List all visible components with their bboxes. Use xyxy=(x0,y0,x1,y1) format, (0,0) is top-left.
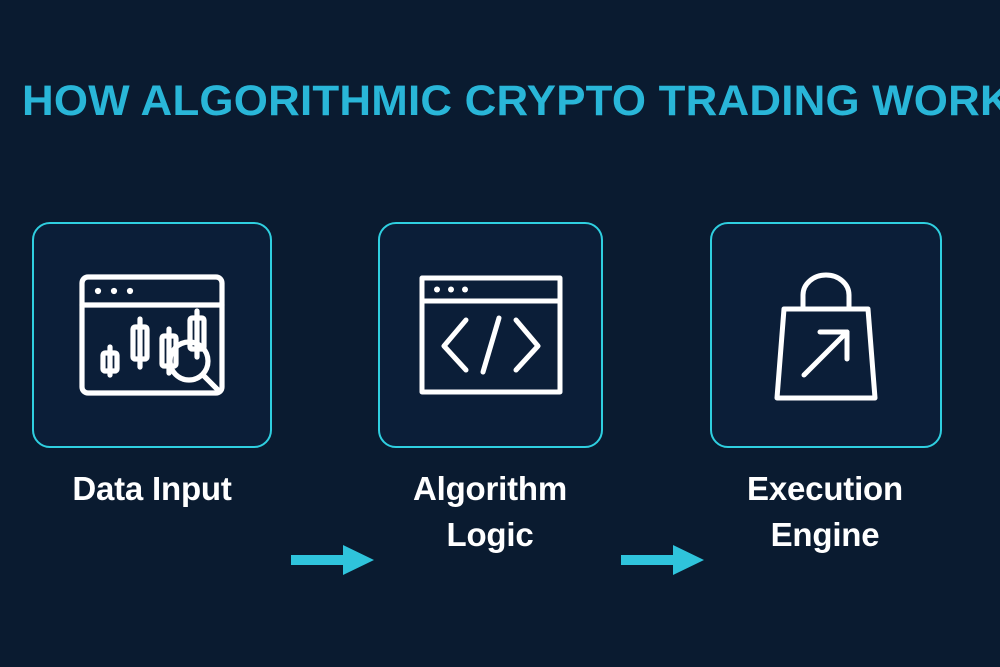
flow-step-data-input[interactable] xyxy=(32,222,272,448)
page-title: HOW ALGORITHMIC CRYPTO TRADING WORKS xyxy=(22,79,981,127)
shopping-bag-arrow-icon xyxy=(762,265,890,405)
step-card[interactable] xyxy=(378,222,603,448)
label-line: Data Input xyxy=(12,466,292,512)
code-window-icon xyxy=(418,274,564,396)
flow-step-algorithm-logic[interactable] xyxy=(378,222,603,448)
process-flow xyxy=(0,222,1000,452)
label-line: Algorithm xyxy=(370,466,610,512)
flow-step-execution-engine[interactable] xyxy=(710,222,942,448)
step-card[interactable] xyxy=(32,222,272,448)
label-line: Engine xyxy=(700,512,950,558)
flow-connector-1 xyxy=(291,544,375,576)
infographic-canvas: HOW ALGORITHMIC CRYPTO TRADING WORKS xyxy=(0,0,1000,667)
chart-search-window-icon xyxy=(76,271,228,399)
flow-step-label-execution-engine: Execution Engine xyxy=(700,466,950,558)
label-line: Execution xyxy=(700,466,950,512)
label-line: Logic xyxy=(370,512,610,558)
flow-step-label-algorithm-logic: Algorithm Logic xyxy=(370,466,610,558)
flow-connector-2 xyxy=(621,544,705,576)
arrow-right-icon xyxy=(291,544,375,576)
step-card[interactable] xyxy=(710,222,942,448)
flow-step-label-data-input: Data Input xyxy=(12,466,292,512)
arrow-right-icon xyxy=(621,544,705,576)
